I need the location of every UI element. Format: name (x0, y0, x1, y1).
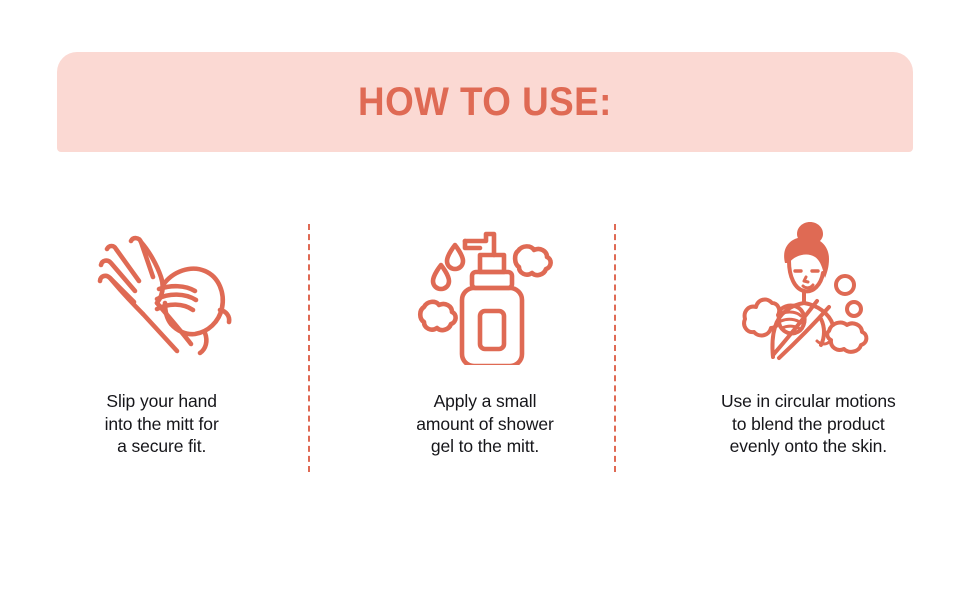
step-1-caption-line-2: into the mitt for (37, 413, 287, 436)
step-2-caption-line-1: Apply a small (360, 390, 610, 413)
hand-into-mitt-icon (87, 215, 237, 365)
page-title: HOW TO USE: (358, 80, 612, 125)
how-to-use-banner: HOW TO USE: (57, 52, 913, 152)
shower-gel-bottle-icon (410, 215, 560, 365)
woman-applying-product-icon (733, 215, 883, 365)
step-1-caption-line-1: Slip your hand (37, 390, 287, 413)
step-2-caption: Apply a small amount of shower gel to th… (360, 390, 610, 458)
step-1-caption: Slip your hand into the mitt for a secur… (37, 390, 287, 458)
step-3: Use in circular motions to blend the pro… (647, 210, 970, 458)
step-2-caption-line-2: amount of shower (360, 413, 610, 436)
step-2: Apply a small amount of shower gel to th… (323, 210, 646, 458)
step-3-caption-line-2: to blend the product (683, 413, 933, 436)
step-3-caption-line-3: evenly onto the skin. (683, 435, 933, 458)
step-1-caption-line-3: a secure fit. (37, 435, 287, 458)
step-3-icon-wrap (733, 210, 883, 370)
step-1-icon-wrap (87, 210, 237, 370)
step-1: Slip your hand into the mitt for a secur… (0, 210, 323, 458)
step-2-icon-wrap (410, 210, 560, 370)
step-3-caption: Use in circular motions to blend the pro… (683, 390, 933, 458)
step-3-caption-line-1: Use in circular motions (683, 390, 933, 413)
step-2-caption-line-3: gel to the mitt. (360, 435, 610, 458)
steps-row: Slip your hand into the mitt for a secur… (0, 210, 970, 458)
